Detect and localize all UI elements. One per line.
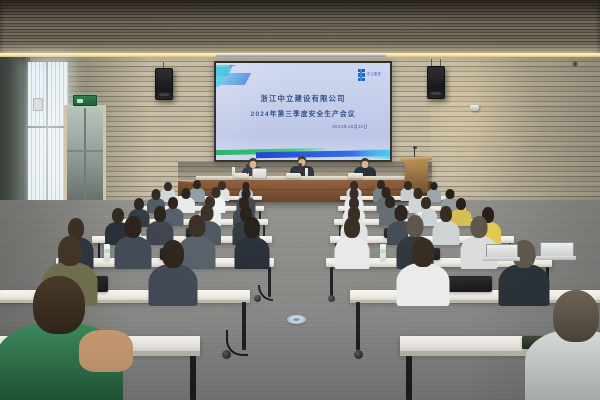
- attendee-head: [344, 217, 360, 238]
- attendee-head: [407, 215, 424, 237]
- nameplate: [286, 173, 301, 178]
- laptop-base: [536, 256, 576, 260]
- panelist-left-face: [250, 161, 257, 168]
- wall-shadow-right: [450, 57, 600, 207]
- laptop-on-head-table: [252, 168, 267, 179]
- water-bottle: [380, 244, 386, 260]
- attendee-torso: [525, 330, 600, 400]
- attendee: [234, 217, 270, 267]
- attendee-head: [151, 189, 160, 200]
- projection-screen: 中立建设 浙江中立建设有限公司 2024年第三季度安全生产会议 2024年10月…: [216, 63, 390, 160]
- ceiling-shadow: [0, 0, 600, 22]
- water-bottle: [232, 167, 235, 176]
- slide-company-name: 浙江中立建设有限公司: [216, 93, 390, 104]
- slide-date: 2024年10月12日: [332, 124, 368, 130]
- laptop-base: [482, 257, 520, 261]
- attendee-head: [421, 197, 431, 209]
- water-bottle: [104, 244, 110, 260]
- attendee-head: [189, 215, 206, 237]
- ceiling-corner-fixture: [573, 62, 577, 66]
- attendee: [148, 240, 198, 302]
- attendee-head: [430, 182, 437, 190]
- foreground-attendee-arm: [78, 330, 134, 374]
- attendee-head: [134, 198, 144, 210]
- attendee-torso: [149, 264, 198, 306]
- attendee-head: [33, 276, 85, 334]
- attendee-head: [244, 217, 260, 238]
- table-caster: [354, 350, 363, 359]
- attendee-torso: [335, 237, 370, 269]
- table-leg: [406, 356, 412, 400]
- attendee-head: [58, 236, 82, 266]
- microphone-icon: [247, 166, 248, 174]
- attendee-head: [125, 216, 142, 238]
- floor-position-marker: [287, 315, 306, 324]
- attendee-torso: [115, 236, 152, 269]
- table-caster: [254, 295, 261, 302]
- attendee-head: [154, 206, 166, 222]
- attendee-torso: [397, 263, 450, 306]
- table-caster: [222, 350, 231, 359]
- nameplate: [348, 173, 363, 178]
- window-frame-horizontal: [28, 126, 68, 128]
- attendee-head: [471, 216, 488, 238]
- slide-meeting-title: 2024年第三季度安全生产会议: [216, 108, 390, 118]
- conference-room-photo: 中立建设 浙江中立建设有限公司 2024年第三季度安全生产会议 2024年10月…: [0, 0, 600, 400]
- microphone-icon: [300, 165, 301, 174]
- attendee-arm: [79, 330, 133, 372]
- slide-company-logo: 中立建设: [358, 69, 381, 81]
- wall-switch-plate: [33, 98, 43, 111]
- table-leg: [190, 356, 196, 400]
- attendee-head: [553, 290, 599, 342]
- exit-sign-icon: [73, 95, 97, 106]
- wall-sensor-icon: [470, 105, 479, 111]
- wall-speaker-icon: [427, 66, 445, 99]
- panelist-right-face: [362, 161, 369, 168]
- attendee: [114, 216, 152, 267]
- door-frame: [64, 105, 106, 208]
- attendee-torso: [235, 237, 270, 269]
- attendee-head: [164, 182, 172, 191]
- attendee-head: [440, 206, 452, 222]
- attendee-head: [162, 240, 184, 268]
- attendee: [334, 217, 370, 267]
- attendee: [396, 238, 450, 302]
- wall-speaker-icon: [155, 68, 173, 100]
- company-logo-mark-icon: [358, 69, 365, 81]
- table-caster: [328, 295, 335, 302]
- water-bottle: [305, 168, 308, 177]
- table-leg: [356, 302, 360, 350]
- foreground-attendee-right: [524, 290, 600, 400]
- company-logo-text: 中立建设: [367, 73, 381, 77]
- attendee-head: [412, 238, 435, 267]
- table-leg: [330, 267, 333, 297]
